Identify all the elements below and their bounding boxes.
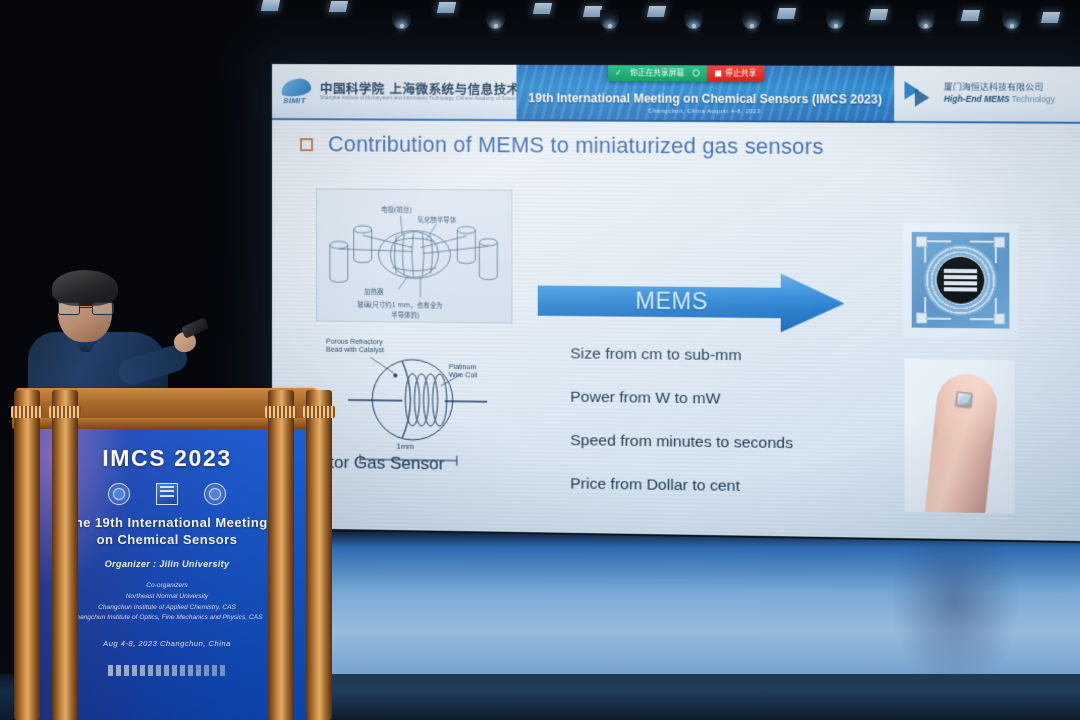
label-heater: 加热器 [364,287,383,296]
presentation-slide: SIMIT 中国科学院 上海微系统与信息技术研究所 Shanghai Insti… [272,64,1080,541]
simit-mark-icon: SIMIT [280,77,314,105]
screen-share-toolbar[interactable]: ✓ 你正在共享屏幕 停止共享 [608,64,765,82]
label-oxide-semiconductor: 氧化物半导体 [417,215,456,224]
square-bullet-icon [300,138,313,151]
check-icon: ✓ [615,68,622,77]
sensing-electrodes [937,257,985,304]
benefits-list: Size from cm to sub-mm Power from W to m… [570,345,793,522]
speaker-hair [52,270,118,306]
label-electrode: 电极(铂丝) [381,205,412,214]
imcs-emblem-icon [156,483,178,505]
hmems-logo: 厦门海恒达科技有限公司 High-End MEMS Technology [894,66,1080,124]
label-glass-1: 玻璃(尺寸约1 mm，也有全为 [357,300,442,310]
projection-screen: SIMIT 中国科学院 上海微系统与信息技术研究所 Shanghai Insti… [270,62,1080,543]
fingertip-chip-photo [905,359,1015,513]
label-scale-1mm: 1mm [396,442,414,452]
podium-column [268,390,294,720]
chip-die [912,232,1010,329]
conference-banner-subtitle: Changchun, China August 4-8, 2023 [648,109,761,116]
label-platinum-coil: Platinum Wire Coil [449,364,478,381]
sharing-status: ✓ 你正在共享屏幕 [608,64,707,82]
stop-share-label: 停止共享 [725,67,756,78]
jilin-university-seal-icon [108,483,130,505]
mems-arrow-label: MEMS [635,287,708,315]
benefit-item: Power from W to mW [570,389,793,410]
stop-share-button[interactable]: 停止共享 [707,64,765,81]
benefit-item: Price from Dollar to cent [570,475,793,496]
simit-logo: SIMIT 中国科学院 上海微系统与信息技术研究所 Shanghai Insti… [272,64,516,121]
conference-banner-title: 19th International Meeting on Chemical S… [528,91,882,107]
slide-title-text: Contribution of MEMS to miniaturized gas… [328,132,824,160]
podium-column [306,390,332,720]
simit-wordmark: SIMIT [283,96,306,105]
hmems-en-light: Technology [1010,95,1055,104]
hmems-en-bold: High-End MEMS [944,94,1010,103]
presentation-clicker [181,317,210,339]
semiconductor-sensor-figure: 电极(铂丝) 氧化物半导体 加热器 玻璃(尺寸约1 mm，也有全为 半导体的) [316,188,512,323]
podium-column [52,390,78,720]
label-glass-2: 半导体的) [391,310,419,319]
podium: IMCS 2023 The 19th International Meeting… [6,388,340,720]
slide-title: Contribution of MEMS to miniaturized gas… [300,132,824,160]
stop-square-icon [715,70,721,76]
podium-column [14,390,40,720]
hmems-arrow-icon [905,80,937,107]
stage-backdrop-glow [310,532,1080,692]
ceiling-light-rig [0,0,1080,34]
podium-sponsor-logo [108,665,226,676]
mems-arrow: MEMS [538,271,845,333]
pause-share-icon[interactable] [692,69,699,76]
hmems-cn-name: 厦门海恒达科技有限公司 [944,84,1055,94]
mems-chip-micrograph [902,223,1018,338]
benefit-item: Speed from minutes to seconds [570,432,793,453]
mems-die-on-finger [956,392,973,408]
speaker-glasses [58,302,114,315]
auditorium-stage: SIMIT 中国科学院 上海微系统与信息技术研究所 Shanghai Insti… [0,0,1080,720]
label-porous-bead: Porous Refractory Bead with Catalyst [326,339,384,356]
cas-seal-icon [204,483,226,505]
benefit-item: Size from cm to sub-mm [570,345,793,366]
sharing-status-label: 你正在共享屏幕 [630,67,684,78]
